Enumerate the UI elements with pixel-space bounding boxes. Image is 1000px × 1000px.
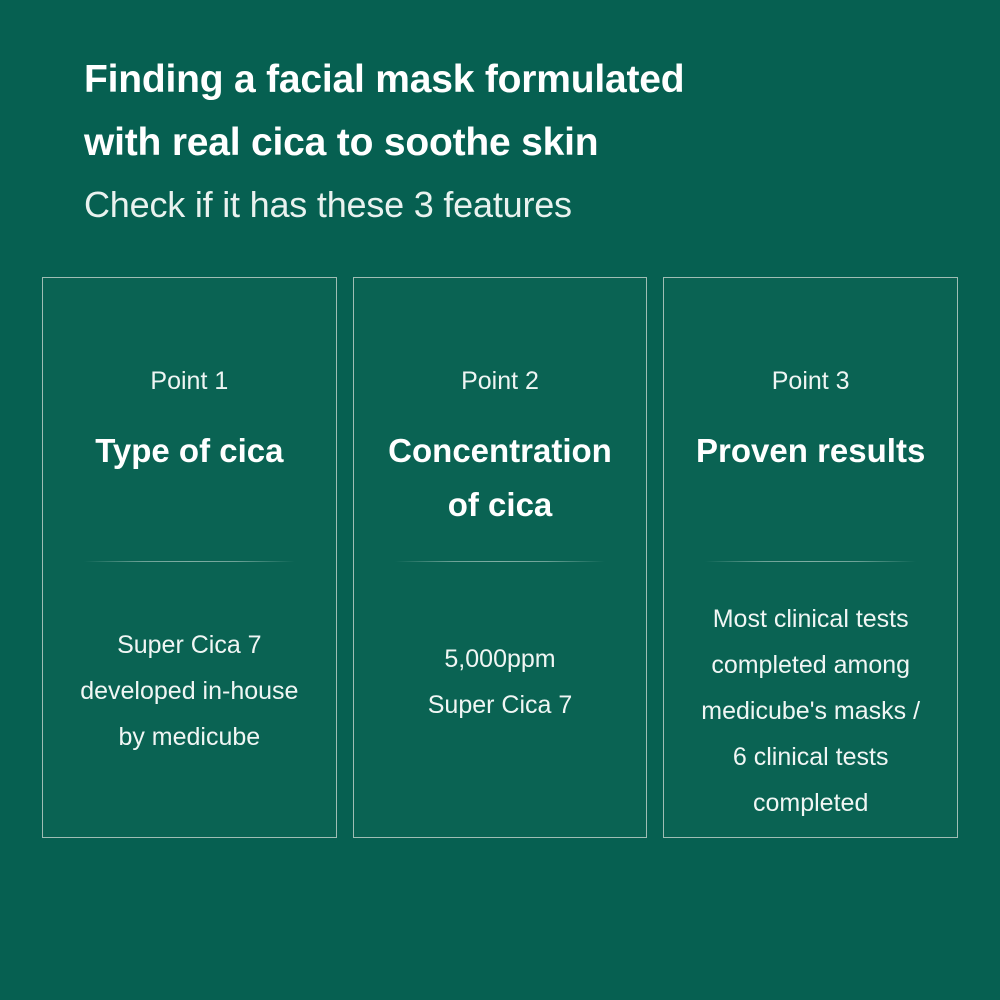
card-divider-3 bbox=[705, 561, 916, 562]
feature-card-list: Point 1 Type of cica Super Cica 7 develo… bbox=[42, 277, 958, 838]
card-body-3: Most clinical tests completed among medi… bbox=[664, 596, 957, 826]
promo-page: Finding a facial mask formulated with re… bbox=[0, 0, 1000, 1000]
feature-card-point-1: Point 1 Type of cica Super Cica 7 develo… bbox=[42, 277, 337, 838]
card-title-1: Type of cica bbox=[85, 424, 293, 478]
headline-line-2: with real cica to soothe skin bbox=[84, 111, 944, 174]
card-body-1: Super Cica 7 developed in-house by medic… bbox=[43, 622, 336, 760]
headline-line-3: Check if it has these 3 features bbox=[84, 174, 944, 236]
headline-line-1: Finding a facial mask formulated bbox=[84, 48, 944, 111]
headline-block: Finding a facial mask formulated with re… bbox=[84, 48, 944, 236]
card-eyebrow-3: Point 3 bbox=[772, 366, 850, 396]
card-body-2: 5,000ppm Super Cica 7 bbox=[354, 636, 647, 728]
card-eyebrow-1: Point 1 bbox=[150, 366, 228, 396]
card-divider-2 bbox=[395, 561, 606, 562]
card-title-3: Proven results bbox=[686, 424, 935, 478]
feature-card-point-2: Point 2 Concentration of cica 5,000ppm S… bbox=[353, 277, 648, 838]
card-eyebrow-2: Point 2 bbox=[461, 366, 539, 396]
card-divider-1 bbox=[84, 561, 295, 562]
card-title-2: Concentration of cica bbox=[378, 424, 622, 532]
feature-card-point-3: Point 3 Proven results Most clinical tes… bbox=[663, 277, 958, 838]
